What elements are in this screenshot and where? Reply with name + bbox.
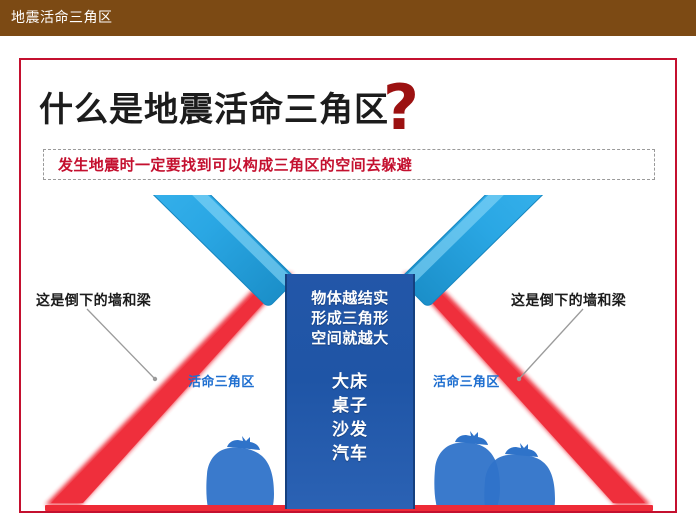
poster-frame: 什么是地震活命三角区 ? 发生地震时一定要找到可以构成三角区的空间去躲避 [19, 58, 677, 513]
zone-label-left: 活命三角区 [188, 371, 255, 390]
panel-object-item-3: 沙发 [332, 418, 368, 442]
panel-object-item-1: 大床 [332, 370, 368, 394]
callout-label-left: 这是倒下的墙和梁 [36, 290, 151, 310]
question-mark-glyph: ? [383, 86, 419, 131]
left-callout-leader-line [87, 309, 157, 381]
zone-label-right: 活命三角区 [433, 371, 500, 390]
window-title-bar: 地震活命三角区 [0, 0, 696, 36]
panel-principle-line-3: 空间就越大 [311, 328, 389, 348]
right-callout-leader-line [517, 309, 583, 381]
advice-banner-text: 发生地震时一定要找到可以构成三角区的空间去躲避 [58, 154, 412, 175]
panel-principle-line-2: 形成三角形 [311, 308, 389, 328]
panel-object-item-4: 汽车 [332, 442, 368, 466]
panel-object-item-2: 桌子 [332, 394, 368, 418]
center-info-panel: 物体越结实 形成三角形 空间就越大 大床 桌子 沙发 汽车 [285, 274, 415, 509]
person-figure-left [206, 436, 274, 511]
advice-banner: 发生地震时一定要找到可以构成三角区的空间去躲避 [43, 149, 655, 180]
headline-text: 什么是地震活命三角区 [39, 93, 389, 127]
panel-principle-line-1: 物体越结实 [311, 288, 389, 308]
person-figure-right-2 [484, 443, 555, 511]
window-title-text: 地震活命三角区 [11, 11, 113, 25]
callout-label-right: 这是倒下的墙和梁 [511, 290, 626, 310]
poster-headline: 什么是地震活命三角区 ? [39, 86, 419, 127]
